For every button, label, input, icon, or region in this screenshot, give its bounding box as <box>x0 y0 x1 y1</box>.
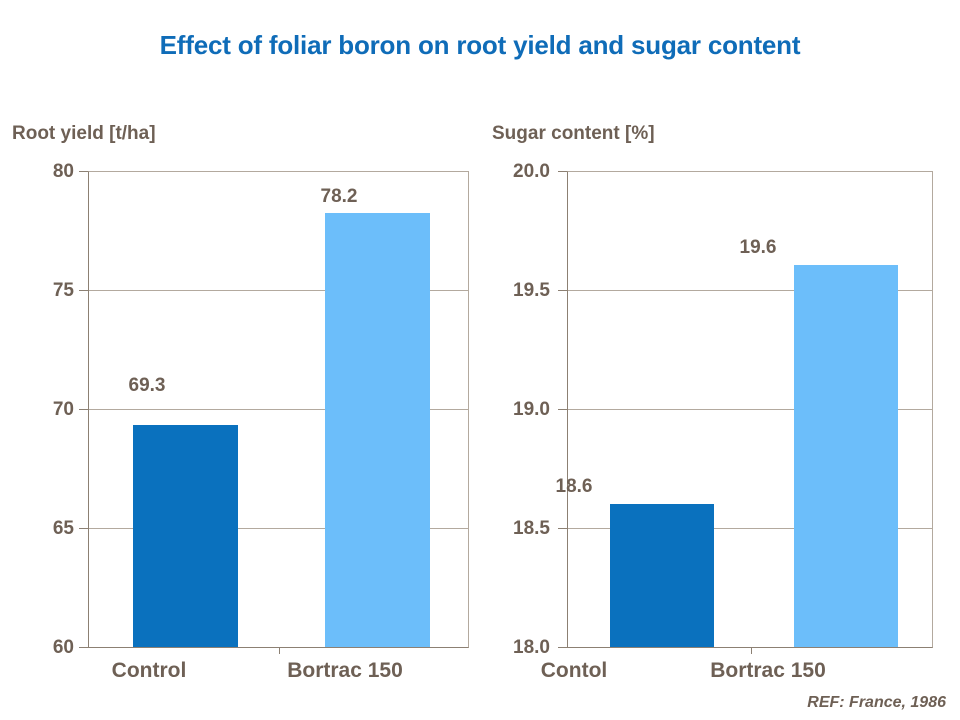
y-tick-label-70: 70 <box>6 399 74 421</box>
y-tick-label-75: 75 <box>6 280 74 302</box>
bar-bortrac-150[interactable] <box>794 265 898 647</box>
x-tick-label-bortrac-150: Bortrac 150 <box>255 659 435 683</box>
y-tick-mark <box>558 290 567 291</box>
y-tick-mark <box>79 647 88 648</box>
bar-value-control: 69.3 <box>82 375 212 397</box>
bar-bortrac-150[interactable] <box>325 213 430 647</box>
y-tick-label-19-0: 19.0 <box>480 399 550 421</box>
bar-value-bortrac-150: 78.2 <box>274 186 404 208</box>
y-tick-mark <box>558 647 567 648</box>
y-tick-label-20-0: 20.0 <box>480 161 550 183</box>
y-tick-label-60: 60 <box>6 637 74 659</box>
y-tick-label-18-5: 18.5 <box>480 518 550 540</box>
bar-value-control: 18.6 <box>509 476 639 498</box>
chart-panel-root-yield: Root yield [t/ha] 80 75 70 65 60 69.3 78… <box>0 0 480 720</box>
bar-value-bortrac-150: 19.6 <box>693 237 823 259</box>
source-reference-note: REF: France, 1986 <box>807 694 946 712</box>
x-tick-label-bortrac-150: Bortrac 150 <box>678 659 858 683</box>
y-tick-mark <box>558 528 567 529</box>
chart-panel-sugar-content: Sugar content [%] 20.0 19.5 19.0 18.5 18… <box>480 0 960 720</box>
y-tick-label-19-5: 19.5 <box>480 280 550 302</box>
y-tick-mark <box>79 290 88 291</box>
category-separator <box>751 647 752 654</box>
y-tick-label-65: 65 <box>6 518 74 540</box>
x-tick-label-control: Contol <box>509 659 639 683</box>
y-axis-title-root-yield: Root yield [t/ha] <box>12 123 156 145</box>
y-tick-mark <box>79 409 88 410</box>
plot-area-root-yield <box>88 171 469 648</box>
bar-control[interactable] <box>133 425 238 647</box>
y-tick-mark <box>558 171 567 172</box>
y-tick-mark <box>79 528 88 529</box>
y-tick-mark <box>558 409 567 410</box>
y-tick-label-18-0: 18.0 <box>480 637 550 659</box>
category-separator <box>279 647 280 654</box>
y-tick-mark <box>79 171 88 172</box>
y-tick-label-80: 80 <box>6 161 74 183</box>
x-tick-label-control: Control <box>84 659 214 683</box>
y-axis-title-sugar-content: Sugar content [%] <box>492 123 655 145</box>
bar-control[interactable] <box>610 504 714 647</box>
